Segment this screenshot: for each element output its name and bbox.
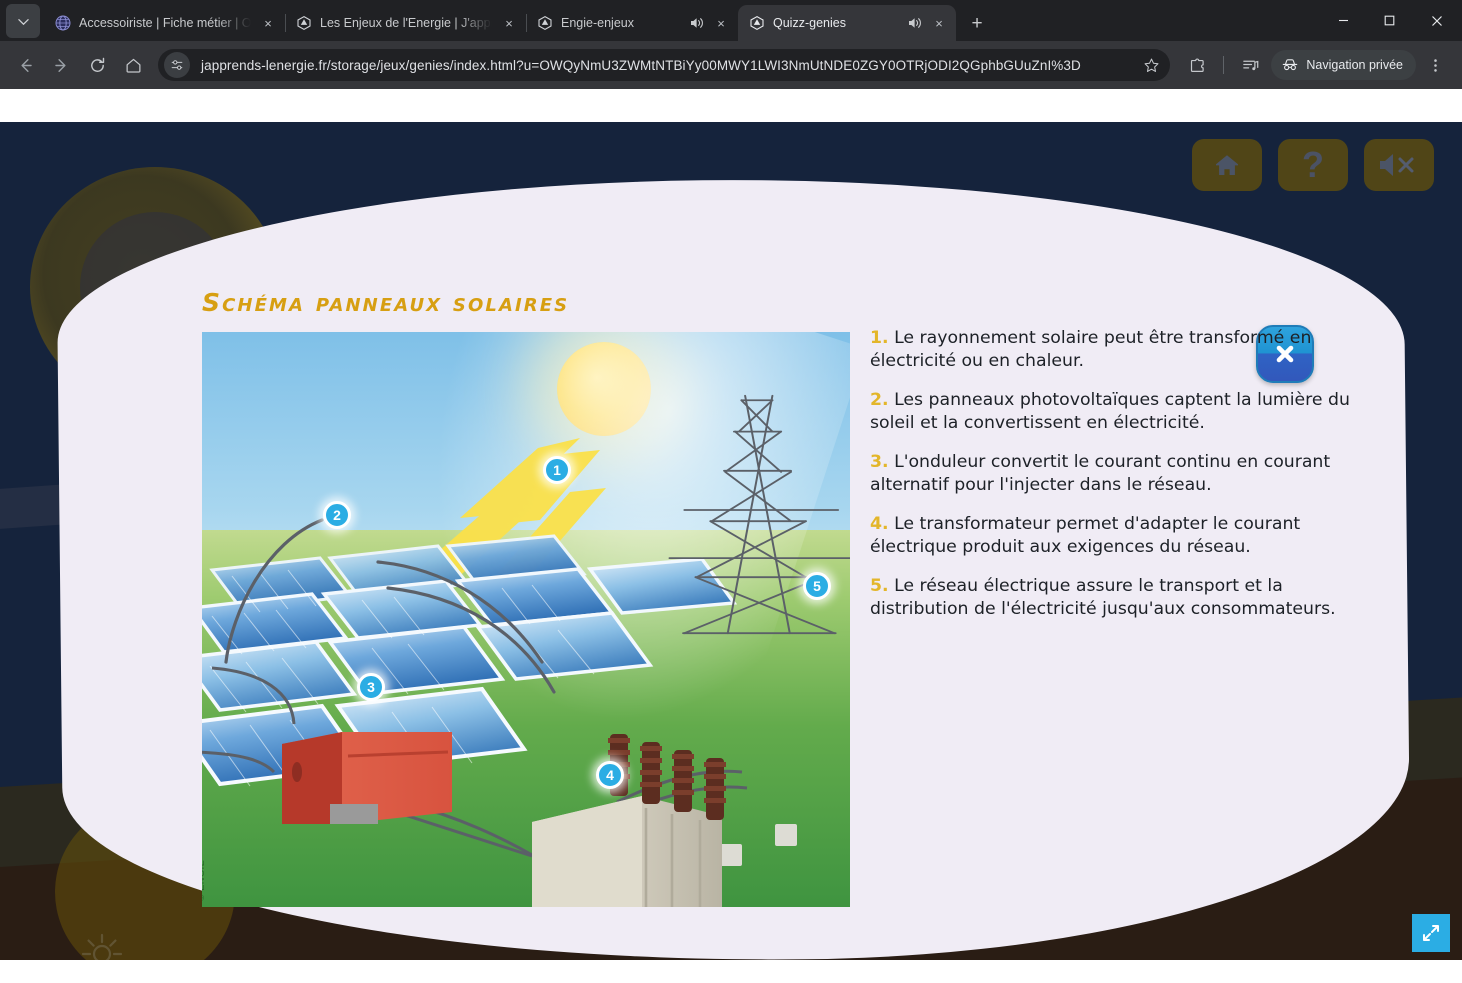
tab-title: Les Enjeux de l'Energie | J'appre [320, 16, 492, 30]
step-number: 5. [870, 576, 889, 596]
reload-icon [88, 56, 107, 75]
window-controls [1320, 0, 1462, 41]
illustration-marker-4[interactable]: 4 [596, 761, 624, 789]
media-control-icon [1241, 56, 1260, 75]
fullscreen-button[interactable] [1412, 914, 1450, 952]
chevron-down-icon [18, 16, 29, 27]
transformer-beige-box [532, 734, 726, 907]
page-title: Schéma panneaux solaires [202, 288, 569, 317]
illustration-vectors [202, 332, 850, 907]
extensions-button[interactable] [1180, 48, 1214, 82]
close-icon [1430, 14, 1444, 28]
tab-close-icon[interactable]: × [500, 14, 518, 32]
media-control-button[interactable] [1233, 48, 1267, 82]
maximize-icon [1383, 14, 1396, 27]
maximize-button[interactable] [1366, 0, 1412, 41]
illustration-marker-2[interactable]: 2 [323, 501, 351, 529]
tab-strip: Accessoiriste | Fiche métier | Op × Les … [0, 0, 1462, 41]
illustration-marker-1[interactable]: 1 [543, 456, 571, 484]
illustration-marker-5[interactable]: 5 [803, 572, 831, 600]
speaker-muted-icon [1376, 150, 1422, 180]
tab-close-icon[interactable]: × [712, 14, 730, 32]
unity-icon [296, 15, 312, 31]
back-arrow-icon [16, 56, 35, 75]
minimize-button[interactable] [1320, 0, 1366, 41]
tab-title: Accessoiriste | Fiche métier | Op [79, 16, 251, 30]
list-item: 3. L'onduleur convertit le courant conti… [870, 451, 1365, 497]
schema-steps-list: 1. Le rayonnement solaire peut être tran… [870, 327, 1365, 637]
schema-modal-card: Schéma panneaux solaires [56, 173, 1411, 960]
forward-arrow-icon [52, 56, 71, 75]
list-item: 1. Le rayonnement solaire peut être tran… [870, 327, 1365, 373]
step-text: Le réseau électrique assure le transport… [870, 576, 1336, 619]
tab-title: Quizz-genies [773, 16, 898, 30]
copyright-label: © ENGIE [202, 860, 206, 901]
incognito-label: Navigation privée [1306, 58, 1403, 72]
expand-arrows-icon [1420, 922, 1442, 944]
minimize-icon [1337, 14, 1350, 27]
question-mark-icon: ? [1302, 147, 1324, 183]
illustration-marker-3[interactable]: 3 [357, 673, 385, 701]
tab-close-icon[interactable]: × [259, 14, 277, 32]
game-page: La qu 373 ? Schéma p [0, 122, 1462, 960]
star-icon [1143, 57, 1160, 74]
bookmark-button[interactable] [1138, 52, 1164, 78]
step-number: 3. [870, 452, 889, 472]
tab-close-icon[interactable]: × [930, 14, 948, 32]
step-text: L'onduleur convertit le courant continu … [870, 452, 1330, 495]
reload-button[interactable] [80, 48, 114, 82]
inverter-red-box [282, 732, 452, 824]
tab-search-button[interactable] [6, 4, 40, 38]
tab-audio-playing-icon[interactable] [906, 15, 922, 31]
solar-schema-illustration: 1 2 3 4 5 © ENGIE [202, 332, 850, 907]
globe-purple-icon [55, 15, 71, 31]
puzzle-icon [1188, 56, 1207, 75]
toolbar-divider [1223, 56, 1224, 74]
step-text: Le transformateur permet d'adapter le co… [870, 514, 1300, 557]
page-top-gap [0, 89, 1462, 122]
tab-engie-enjeux[interactable]: Engie-enjeux × [526, 5, 738, 41]
tab-accessoiriste[interactable]: Accessoiriste | Fiche métier | Op × [44, 5, 285, 41]
incognito-hat-icon [1281, 56, 1299, 74]
three-dot-menu-icon [1427, 57, 1444, 74]
step-number: 2. [870, 390, 889, 410]
page-bottom-gap [0, 960, 1462, 983]
tab-title: Engie-enjeux [561, 16, 680, 30]
list-item: 5. Le réseau électrique assure le transp… [870, 575, 1365, 621]
step-number: 1. [870, 328, 889, 348]
forward-button[interactable] [44, 48, 78, 82]
unity-icon [537, 15, 553, 31]
address-bar[interactable]: japprends-lenergie.fr/storage/jeux/genie… [158, 49, 1170, 81]
tab-quizz-genies[interactable]: Quizz-genies × [738, 5, 956, 41]
step-text: Les panneaux photovoltaïques captent la … [870, 390, 1350, 433]
tune-icon [170, 58, 184, 72]
tab-audio-playing-icon[interactable] [688, 15, 704, 31]
back-button[interactable] [8, 48, 42, 82]
new-tab-button[interactable]: + [962, 8, 992, 38]
unity-icon [749, 15, 765, 31]
browser-window: Accessoiriste | Fiche métier | Op × Les … [0, 0, 1462, 983]
browser-toolbar: japprends-lenergie.fr/storage/jeux/genie… [0, 41, 1462, 89]
list-item: 4. Le transformateur permet d'adapter le… [870, 513, 1365, 559]
incognito-indicator[interactable]: Navigation privée [1271, 50, 1416, 80]
browser-menu-button[interactable] [1418, 48, 1452, 82]
tab-les-enjeux-de-lenergie[interactable]: Les Enjeux de l'Energie | J'appre × [285, 5, 526, 41]
list-item: 2. Les panneaux photovoltaïques captent … [870, 389, 1365, 435]
site-settings-button[interactable] [164, 52, 190, 78]
home-icon [124, 56, 143, 75]
url-text[interactable]: japprends-lenergie.fr/storage/jeux/genie… [190, 58, 1138, 73]
step-text: Le rayonnement solaire peut être transfo… [870, 328, 1311, 371]
home-icon [1212, 150, 1242, 180]
close-window-button[interactable] [1412, 0, 1462, 41]
home-button[interactable] [116, 48, 150, 82]
step-number: 4. [870, 514, 889, 534]
